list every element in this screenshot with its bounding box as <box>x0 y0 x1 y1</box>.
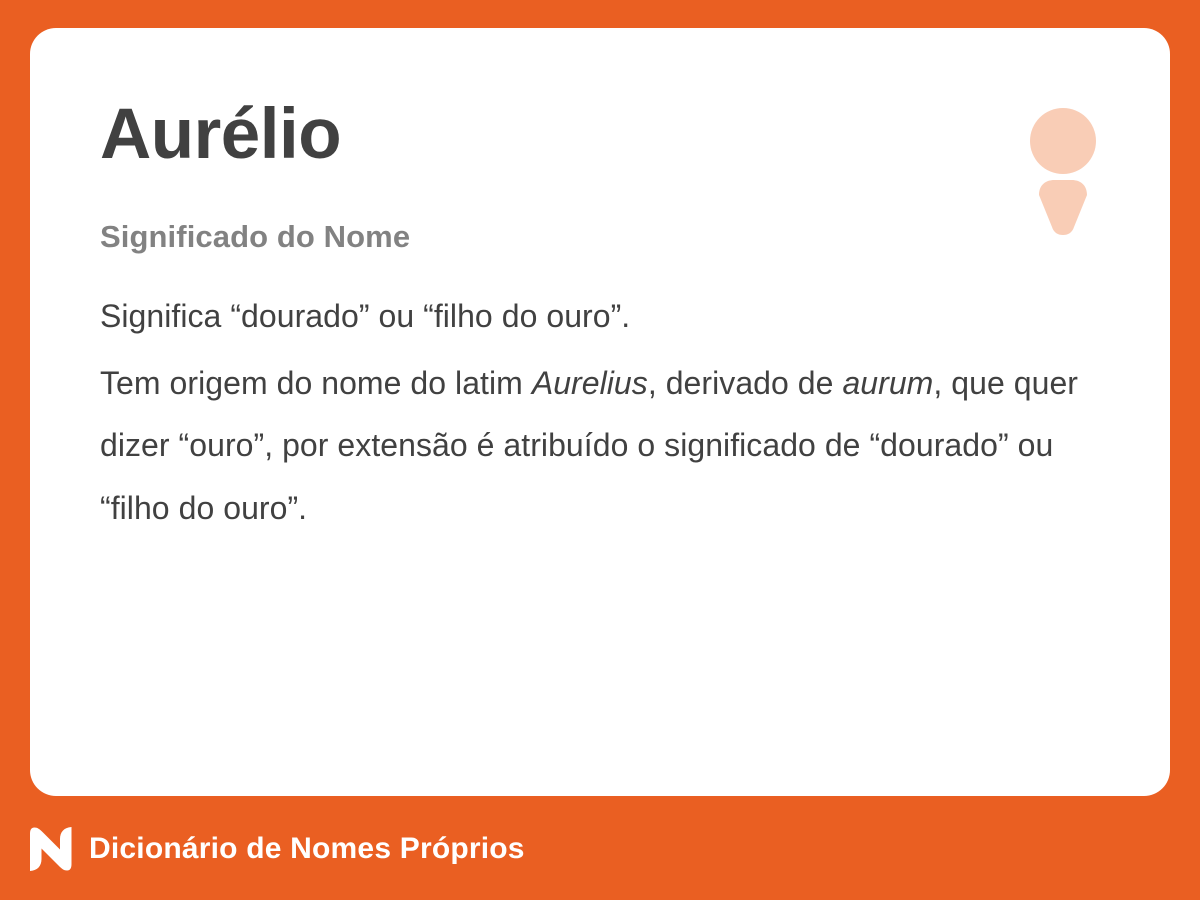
page-title: Aurélio <box>100 86 1100 173</box>
section-subtitle: Significado do Nome <box>100 173 1100 255</box>
definition-text-part-1: Tem origem do nome do latim <box>100 365 532 401</box>
n-monogram-logo-icon <box>30 827 72 871</box>
brand-footer: Dicionário de Nomes Próprios <box>30 818 525 880</box>
page-root: Aurélio Significado do Nome Significa “d… <box>0 0 1200 900</box>
brand-name: Dicionário de Nomes Próprios <box>89 832 525 866</box>
definition-text-part-2: , derivado de <box>648 365 843 401</box>
definition-block: Significa “dourado” ou “filho do ouro”. … <box>100 255 1100 540</box>
name-meaning-card: Aurélio Significado do Nome Significa “d… <box>30 28 1170 796</box>
person-icon <box>1026 108 1100 236</box>
latin-term-aurum: aurum <box>842 365 933 401</box>
definition-paragraph-2: Tem origem do nome do latim Aurelius, de… <box>100 352 1100 539</box>
card-content: Aurélio Significado do Nome Significa “d… <box>100 86 1100 796</box>
definition-paragraph-1: Significa “dourado” ou “filho do ouro”. <box>100 285 1100 347</box>
latin-term-aurelius: Aurelius <box>532 365 648 401</box>
